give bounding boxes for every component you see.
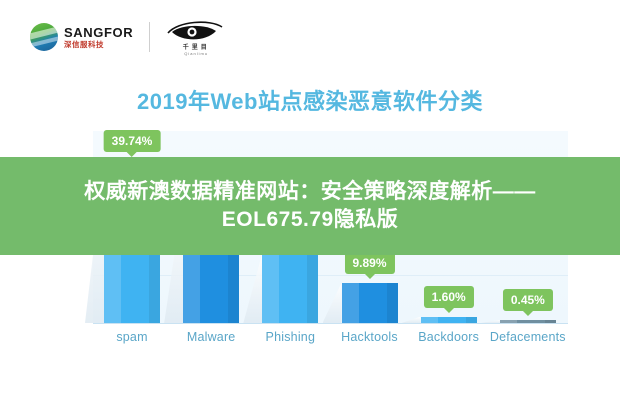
value-badge-spam: 39.74% bbox=[104, 130, 161, 152]
x-label-malware: Malware bbox=[166, 330, 256, 344]
partner-logo-text-en: Qianlimu bbox=[166, 51, 226, 56]
bar-shadow bbox=[402, 317, 421, 324]
partner-logo: 千里目 Qianlimu bbox=[166, 20, 226, 54]
bar-shadow bbox=[323, 283, 342, 323]
x-label-hacktools: Hacktools bbox=[325, 330, 415, 344]
bar-highlight bbox=[500, 320, 517, 323]
bar-highlight bbox=[342, 283, 359, 323]
eye-icon bbox=[166, 20, 226, 42]
x-label-phishing: Phishing bbox=[245, 330, 335, 344]
bar-body bbox=[262, 253, 318, 323]
value-badge-hacktools: 9.89% bbox=[344, 252, 394, 274]
bar-shade bbox=[545, 320, 556, 323]
bar-highlight bbox=[262, 253, 279, 323]
bar-shadow bbox=[243, 253, 262, 323]
x-axis-labels: spamMalwarePhishingHacktoolsBackdoorsDef… bbox=[93, 330, 568, 350]
chart-title: 2019年Web站点感染恶意软件分类 bbox=[0, 84, 620, 116]
bar-body bbox=[500, 320, 556, 323]
value-badge-defacements: 0.45% bbox=[503, 289, 553, 311]
partner-logo-text-cn: 千里目 bbox=[166, 42, 226, 51]
value-badge-backdoors: 1.60% bbox=[424, 286, 474, 308]
overlay-banner-text: 权威新澳数据精准网站：安全策略深度解析——EOL675.79隐私版 bbox=[0, 178, 620, 233]
bar-shade bbox=[387, 283, 398, 323]
sangfor-brand-cn: 深信服科技 bbox=[64, 41, 133, 49]
logo-bar: SANGFOR 深信服科技 千里目 Qianlimu bbox=[30, 16, 226, 58]
bar-highlight bbox=[421, 317, 438, 324]
x-label-backdoors: Backdoors bbox=[404, 330, 494, 344]
sangfor-logo: SANGFOR 深信服科技 bbox=[30, 23, 133, 51]
bar-shadow bbox=[481, 320, 500, 323]
bar-shade bbox=[307, 253, 318, 323]
bar-shade bbox=[466, 317, 477, 324]
sangfor-wordmark: SANGFOR 深信服科技 bbox=[64, 26, 133, 49]
bar-body bbox=[421, 317, 477, 324]
sangfor-globe-icon bbox=[30, 23, 58, 51]
overlay-banner: 权威新澳数据精准网站：安全策略深度解析——EOL675.79隐私版 bbox=[0, 157, 620, 255]
logo-divider bbox=[149, 22, 150, 52]
x-label-defacements: Defacements bbox=[483, 330, 573, 344]
x-label-spam: spam bbox=[87, 330, 177, 344]
bar-body bbox=[342, 283, 398, 323]
sangfor-brand-en: SANGFOR bbox=[64, 26, 133, 39]
